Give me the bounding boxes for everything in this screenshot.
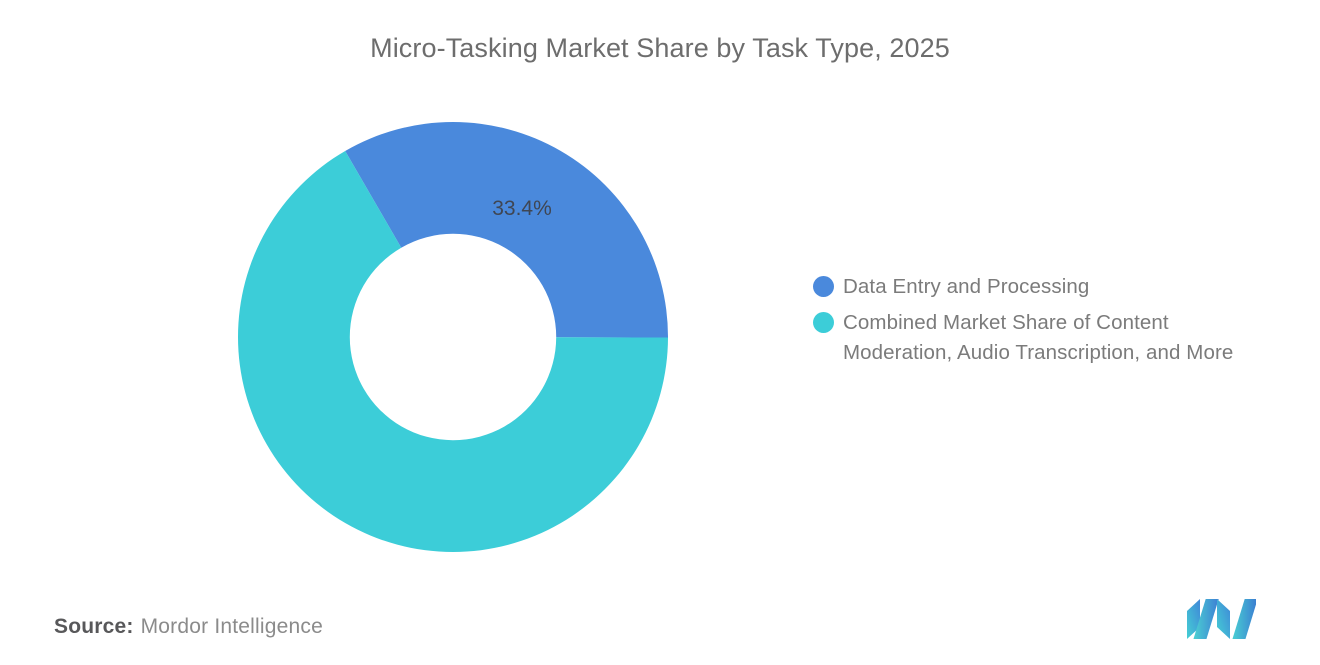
donut-chart bbox=[238, 122, 668, 552]
chart-legend: Data Entry and Processing Combined Marke… bbox=[813, 272, 1293, 372]
legend-swatch-icon-teal bbox=[813, 312, 834, 333]
logo-svg bbox=[1186, 598, 1256, 640]
slice-data-entry-and-processing[interactable] bbox=[345, 122, 668, 338]
source-line: Source:Mordor Intelligence bbox=[54, 612, 323, 642]
chart-title: Micro-Tasking Market Share by Task Type,… bbox=[0, 30, 1320, 66]
legend-item-combined-share[interactable]: Combined Market Share of Content Moderat… bbox=[813, 308, 1293, 368]
legend-label-data-entry: Data Entry and Processing bbox=[843, 272, 1293, 302]
mordor-intelligence-logo-icon bbox=[1186, 598, 1256, 640]
legend-label-combined-share: Combined Market Share of Content Moderat… bbox=[843, 308, 1283, 368]
chart-container: Micro-Tasking Market Share by Task Type,… bbox=[0, 0, 1320, 665]
donut-slices bbox=[238, 122, 668, 552]
source-label: Source: bbox=[54, 615, 134, 638]
source-value: Mordor Intelligence bbox=[141, 615, 323, 638]
legend-swatch-icon-blue bbox=[813, 276, 834, 297]
legend-item-data-entry[interactable]: Data Entry and Processing bbox=[813, 272, 1293, 302]
donut-chart-svg bbox=[238, 122, 668, 552]
